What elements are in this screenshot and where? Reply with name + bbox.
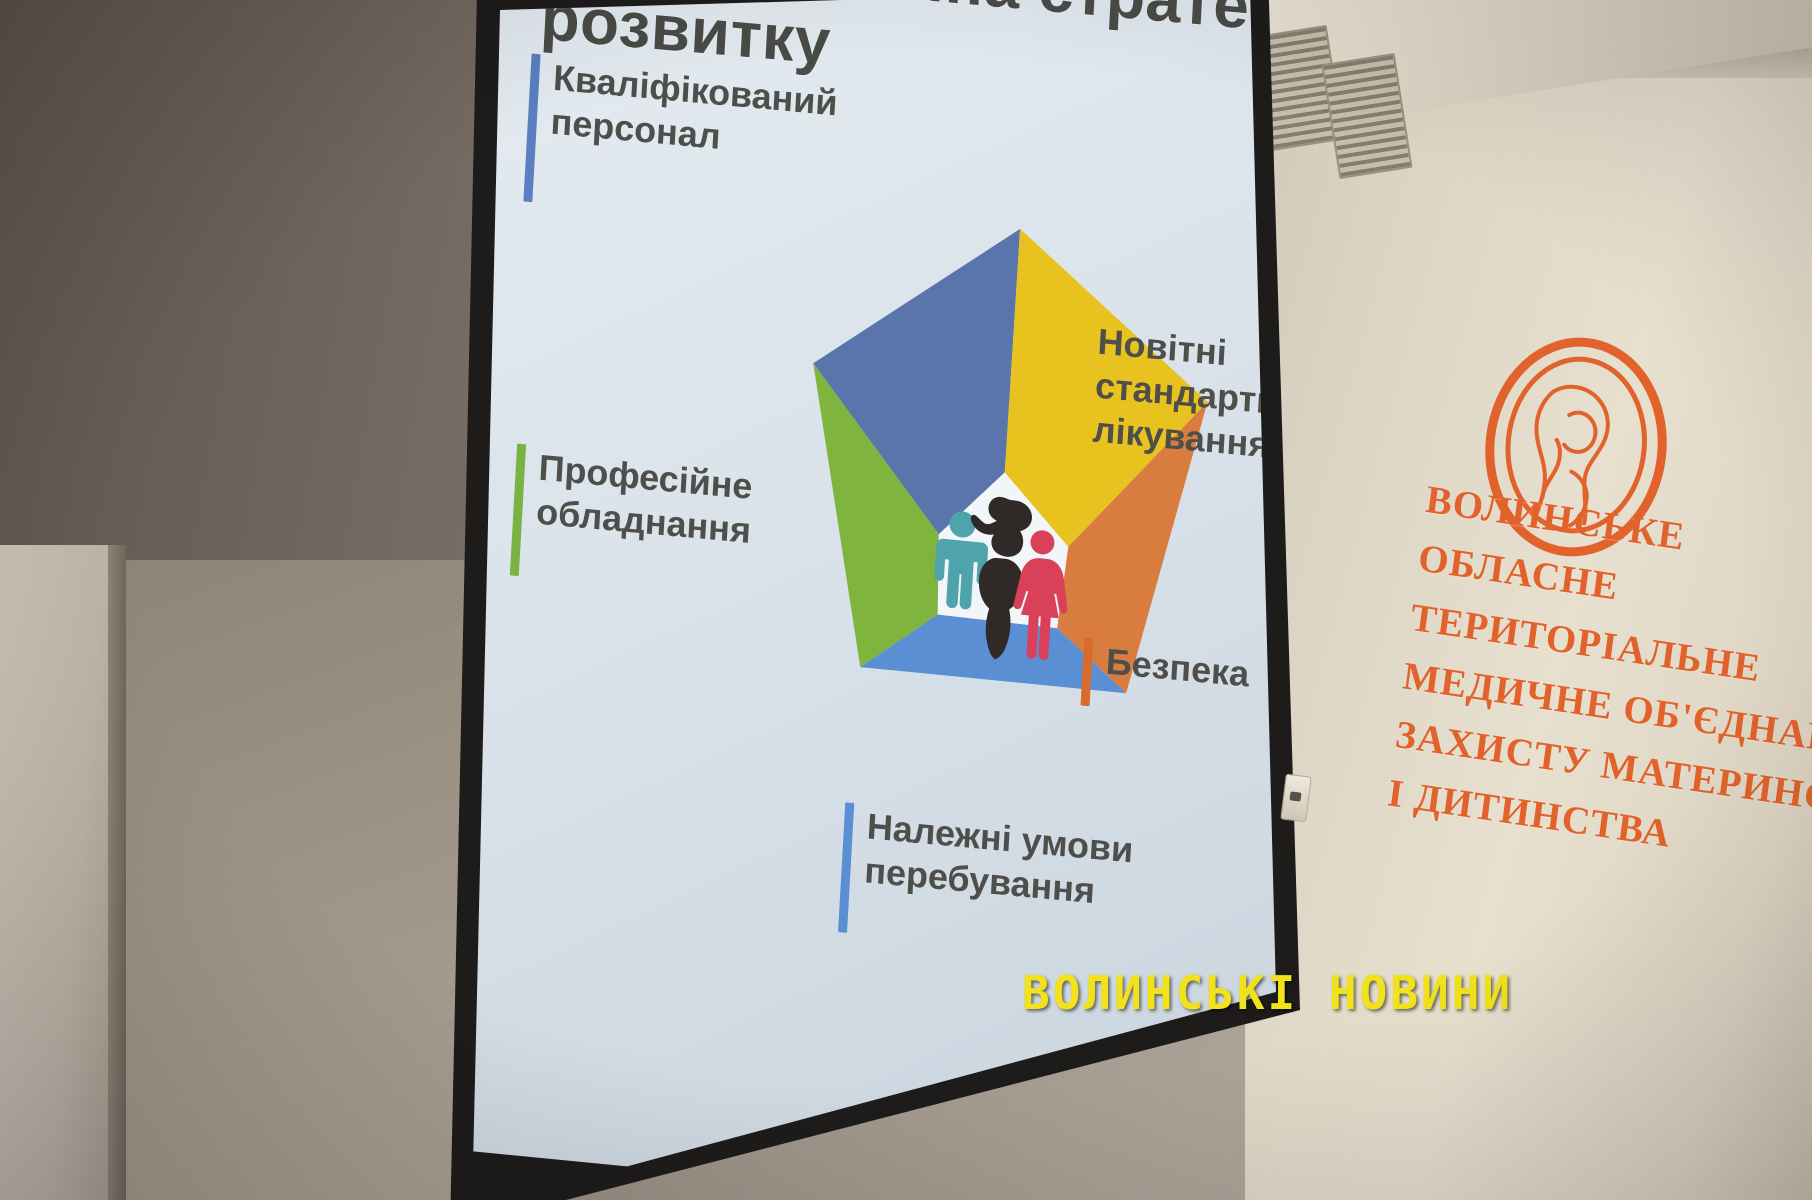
callout-stay: Належні умови перебування	[838, 802, 1134, 958]
callout-standards: Новітні стандарти лікування	[1068, 317, 1282, 488]
callout-accent-bar	[838, 802, 854, 933]
callout-equipment: Професійне обладнання	[510, 444, 755, 597]
callout-safety-label: Безпека	[1105, 640, 1251, 697]
strategy-pentagon-diagram	[773, 190, 1230, 850]
wall-sensor-dot	[1289, 791, 1301, 801]
callout-staff: Кваліфікований персонал	[523, 54, 838, 230]
door-recess-edge	[108, 545, 126, 1200]
wall-sign: ВОЛИНСЬКЕ ОБЛАСНЕ ТЕРИТОРІАЛЬНЕ МЕДИЧНЕ …	[1384, 470, 1812, 884]
screenshot-stage: Наша незмінна стратегія розвитку	[0, 0, 1812, 1200]
callout-accent-bar	[523, 54, 540, 203]
news-watermark: ВОЛИНСЬКІ НОВИНИ	[1022, 966, 1513, 1020]
callout-equipment-label: Професійне обладнання	[535, 446, 754, 553]
door-recess	[0, 545, 120, 1200]
callout-standards-label: Новітні стандарти лікування	[1092, 320, 1282, 468]
callout-accent-bar	[510, 444, 526, 577]
